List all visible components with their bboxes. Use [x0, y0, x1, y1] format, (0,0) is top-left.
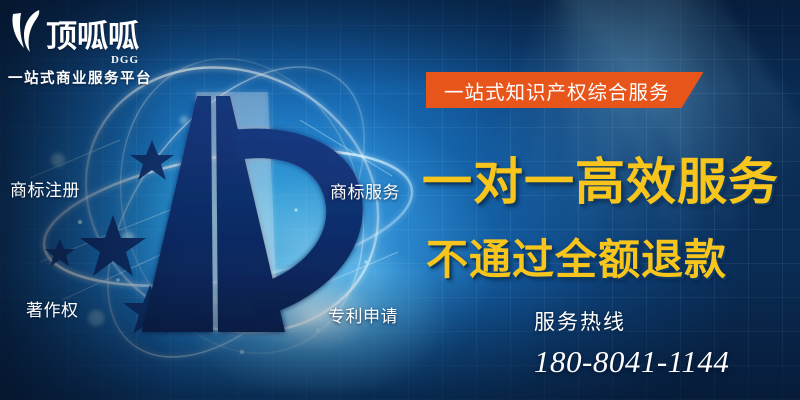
feature-label-copyright[interactable]: 著作权: [26, 296, 79, 321]
feature-label-trademark-registration[interactable]: 商标注册: [10, 176, 80, 201]
hotline-number[interactable]: 180-8041-1144: [534, 344, 729, 380]
ribbon-banner: 一站式知识产权综合服务: [426, 72, 704, 108]
ribbon-text: 一站式知识产权综合服务: [444, 76, 670, 105]
brand-tagline: 一站式商业服务平台: [8, 67, 152, 88]
leaf-flame-icon: [8, 8, 44, 54]
headline-primary: 一对一高效服务: [422, 142, 779, 214]
brand-logo[interactable]: 顶呱呱 DGG 一站式商业服务平台: [8, 8, 183, 86]
hotline-label: 服务热线: [534, 306, 626, 336]
promo-banner: 顶呱呱 DGG 一站式商业服务平台 商标注册 著作权 商标服务 专利申请 一站式…: [0, 0, 800, 400]
brand-name: 顶呱呱: [46, 20, 139, 54]
feature-label-patent-application[interactable]: 专利申请: [328, 302, 398, 327]
feature-label-trademark-service[interactable]: 商标服务: [330, 178, 400, 203]
headline-secondary: 不通过全额退款: [426, 226, 727, 287]
brand-abbreviation: DGG: [111, 54, 139, 66]
